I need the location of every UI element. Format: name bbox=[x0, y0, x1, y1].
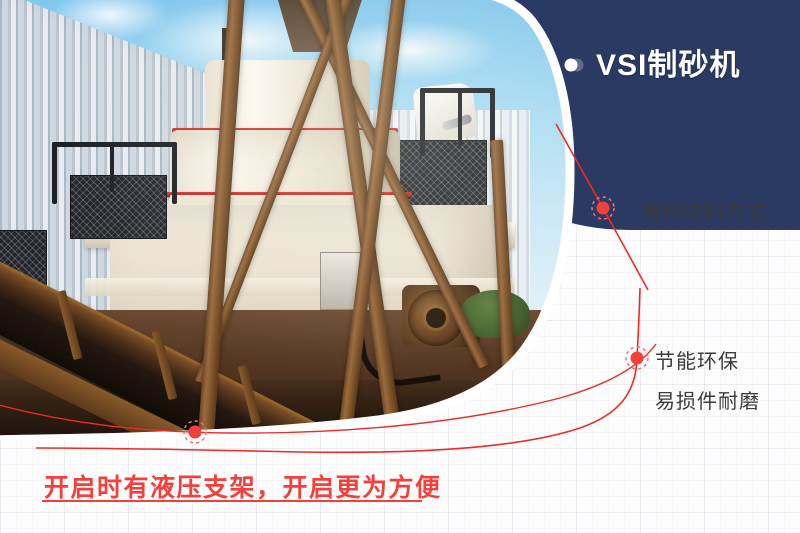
mesh-railing-panel bbox=[70, 175, 167, 239]
railing-post bbox=[110, 142, 114, 192]
photo-scene bbox=[0, 0, 610, 440]
machine-photo-panel bbox=[0, 0, 610, 440]
railing-post bbox=[52, 142, 57, 204]
feature-label-1: 两种进料方式 bbox=[641, 196, 767, 225]
railing-bar bbox=[52, 142, 177, 147]
railing-post bbox=[172, 142, 177, 204]
bottom-caption: 开启时有液压支架，开启更为方便 bbox=[44, 468, 442, 504]
railing-post bbox=[458, 88, 462, 146]
banner-stage: VSI制砂机 两种进料方式 节能环保 易损件耐磨 开启时有液压支架，开启更为方便 bbox=[0, 0, 800, 533]
caption-underline bbox=[42, 500, 422, 502]
photo-clip-region bbox=[0, 0, 610, 440]
page-title: VSI制砂机 bbox=[596, 40, 740, 84]
bullet-dot-icon bbox=[563, 58, 591, 72]
feature-label-3: 易损件耐磨 bbox=[655, 385, 760, 414]
feature-label-2: 节能环保 bbox=[655, 345, 739, 374]
railing-post bbox=[420, 88, 425, 156]
